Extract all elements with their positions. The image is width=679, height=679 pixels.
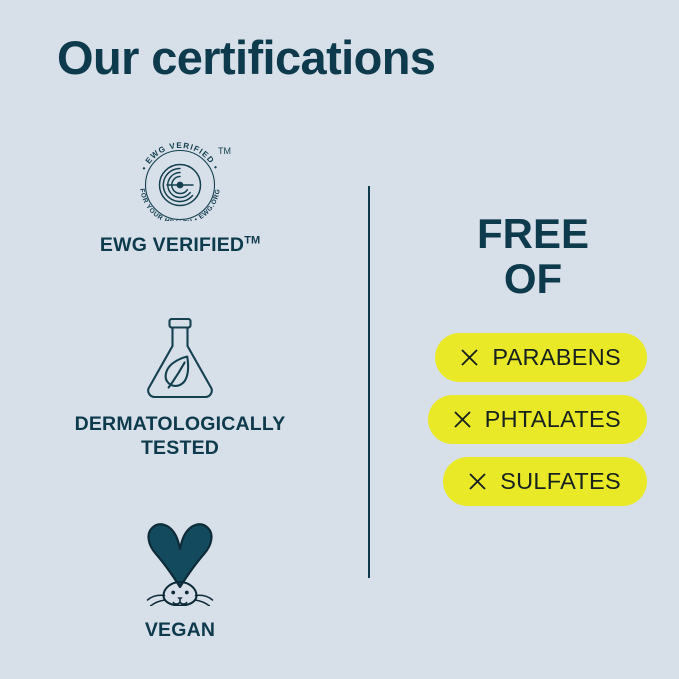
free-of-pill-phtalates: PHTALATES [428,395,647,444]
certifications-list: • EWG VERIFIED • • FOR YOUR HEALTH • EWG… [20,135,340,649]
svg-text:• EWG VERIFIED •: • EWG VERIFIED • [140,141,221,172]
x-mark-icon [460,348,479,367]
certification-label-line1: DERMATOLOGICALLY [20,413,340,437]
x-mark-icon [468,472,487,491]
certification-ewg-verified: • EWG VERIFIED • • FOR YOUR HEALTH • EWG… [20,135,340,258]
free-of-heading: FREE OF [400,212,660,301]
bunny-heart-ears-icon [20,516,340,611]
x-mark-icon [453,410,472,429]
certification-vegan: VEGAN [20,516,340,643]
trademark-symbol: TM [244,235,260,247]
certification-dermatologically-tested: DERMATOLOGICALLY TESTED [20,316,340,461]
certification-label-line2: TESTED [20,437,340,461]
free-of-pill-label: PHTALATES [485,406,621,433]
certification-label-text: EWG VERIFIED [100,234,244,256]
certification-label: DERMATOLOGICALLY TESTED [20,413,340,461]
page-title: Our certifications [57,33,435,82]
ewg-verified-seal-icon: • EWG VERIFIED • • FOR YOUR HEALTH • EWG… [20,135,340,226]
free-of-pill-label: PARABENS [492,344,621,371]
free-of-pill-label: SULFATES [500,468,621,495]
free-of-heading-line2: OF [406,257,660,302]
free-of-panel: FREE OF PARABENS PHTALATES [400,212,660,506]
svg-text:TM: TM [218,146,231,156]
certification-label: VEGAN [20,619,340,643]
free-of-pill-parabens: PARABENS [435,333,647,382]
certification-label: EWG VERIFIEDTM [20,234,340,258]
free-of-pill-sulfates: SULFATES [443,457,647,506]
free-of-heading-line1: FREE [406,212,660,257]
vertical-divider [368,186,370,578]
flask-with-leaf-icon [20,316,340,405]
certifications-infographic: Our certifications • EWG VERIFIED • [0,0,679,679]
free-of-pill-list: PARABENS PHTALATES SULFATES [400,333,660,506]
